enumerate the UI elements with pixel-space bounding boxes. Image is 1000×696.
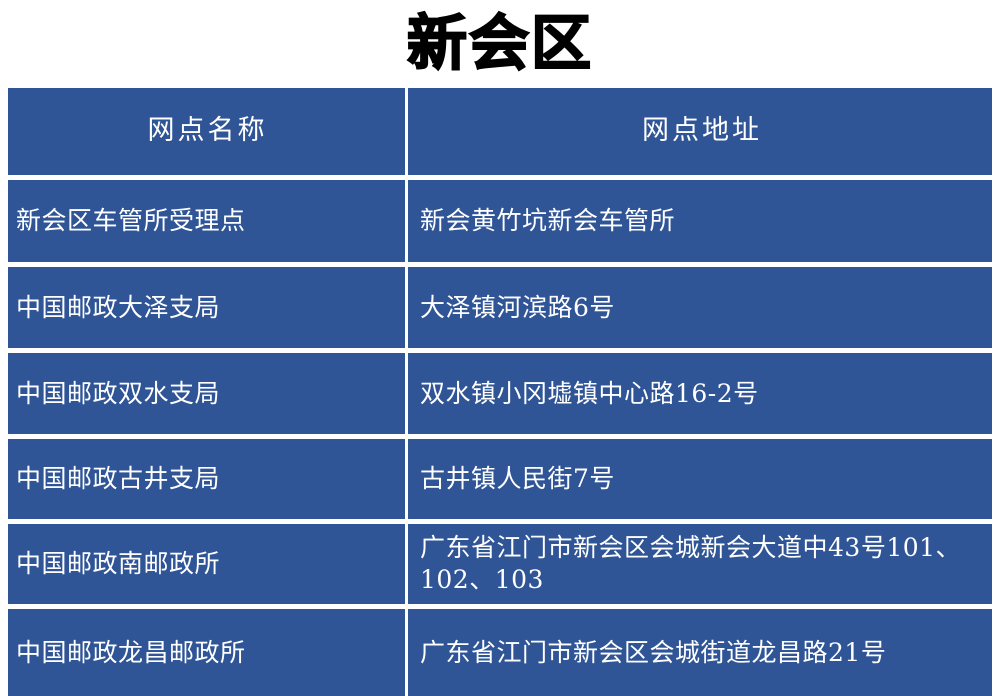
branch-table: 网点名称 网点地址 新会区车管所受理点 新会黄竹坑新会车管所 中国邮政大泽支局 … bbox=[8, 88, 992, 691]
cell-branch-address: 新会黄竹坑新会车管所 bbox=[408, 180, 992, 262]
cell-branch-name: 中国邮政古井支局 bbox=[8, 439, 405, 519]
page-title-container: 新会区 bbox=[0, 0, 1000, 88]
table-row: 中国邮政龙昌邮政所 广东省江门市新会区会城街道龙昌路21号 bbox=[8, 609, 992, 696]
table-row: 新会区车管所受理点 新会黄竹坑新会车管所 bbox=[8, 180, 992, 262]
table-row: 中国邮政古井支局 古井镇人民街7号 bbox=[8, 439, 992, 519]
table-row: 中国邮政南邮政所 广东省江门市新会区会城新会大道中43号101、102、103 bbox=[8, 524, 992, 604]
cell-branch-name: 中国邮政南邮政所 bbox=[8, 524, 405, 604]
table-header-row: 网点名称 网点地址 bbox=[8, 88, 992, 175]
cell-branch-name: 中国邮政双水支局 bbox=[8, 353, 405, 434]
cell-branch-address: 古井镇人民街7号 bbox=[408, 439, 992, 519]
cell-branch-address: 大泽镇河滨路6号 bbox=[408, 267, 992, 348]
cell-branch-name: 中国邮政龙昌邮政所 bbox=[8, 609, 405, 696]
cell-branch-name: 中国邮政大泽支局 bbox=[8, 267, 405, 348]
cell-branch-name: 新会区车管所受理点 bbox=[8, 180, 405, 262]
cell-branch-address: 广东省江门市新会区会城新会大道中43号101、102、103 bbox=[408, 524, 992, 604]
page-root: 新会区 网点名称 网点地址 新会区车管所受理点 新会黄竹坑新会车管所 中国邮政大… bbox=[0, 0, 1000, 691]
cell-branch-address: 双水镇小冈墟镇中心路16-2号 bbox=[408, 353, 992, 434]
table-row: 中国邮政大泽支局 大泽镇河滨路6号 bbox=[8, 267, 992, 348]
table-row: 中国邮政双水支局 双水镇小冈墟镇中心路16-2号 bbox=[8, 353, 992, 434]
page-title: 新会区 bbox=[407, 14, 593, 74]
column-header-address: 网点地址 bbox=[408, 88, 992, 175]
cell-branch-address: 广东省江门市新会区会城街道龙昌路21号 bbox=[408, 609, 992, 696]
column-header-name: 网点名称 bbox=[8, 88, 405, 175]
